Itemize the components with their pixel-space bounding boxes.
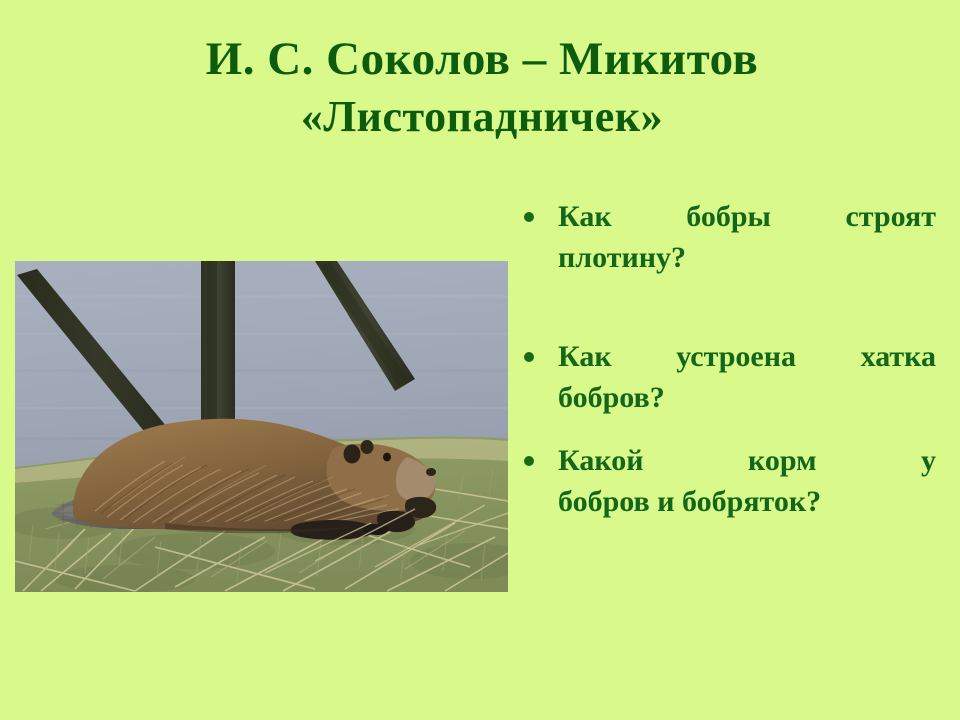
beaver-photo-illustration [15, 261, 508, 592]
title-line-author: И. С. Соколов – Микитов [120, 30, 844, 88]
bullet-dot-icon [524, 456, 534, 466]
question-line: бобров и бобряток? [558, 481, 936, 522]
beaver-eye [383, 453, 391, 462]
list-item: Какой корм у бобров и бобряток? [516, 440, 936, 522]
list-item: Как устроена хатка бобров? [516, 336, 936, 418]
question-line: Как устроена хатка [558, 336, 936, 377]
beaver-nose [426, 468, 436, 476]
question-line: бобров? [558, 377, 936, 418]
list-item: Как бобры строят плотину? [516, 196, 936, 278]
question-list: Как бобры строят плотину? Как устроена х… [516, 196, 936, 548]
bullet-dot-icon [524, 212, 534, 222]
beaver-ear-near [361, 440, 374, 454]
title-line-work: «Листопадничек» [120, 88, 844, 146]
page-title: И. С. Соколов – Микитов «Листопадничек» [120, 30, 844, 146]
bullet-dot-icon [524, 352, 534, 362]
beaver-ear-far [344, 445, 361, 464]
slide-canvas: И. С. Соколов – Микитов «Листопадничек» … [0, 0, 960, 720]
question-line: Как бобры строят [558, 196, 936, 237]
beaver-photo [15, 261, 508, 592]
question-line: плотину? [558, 237, 936, 278]
question-line: Какой корм у [558, 440, 936, 481]
